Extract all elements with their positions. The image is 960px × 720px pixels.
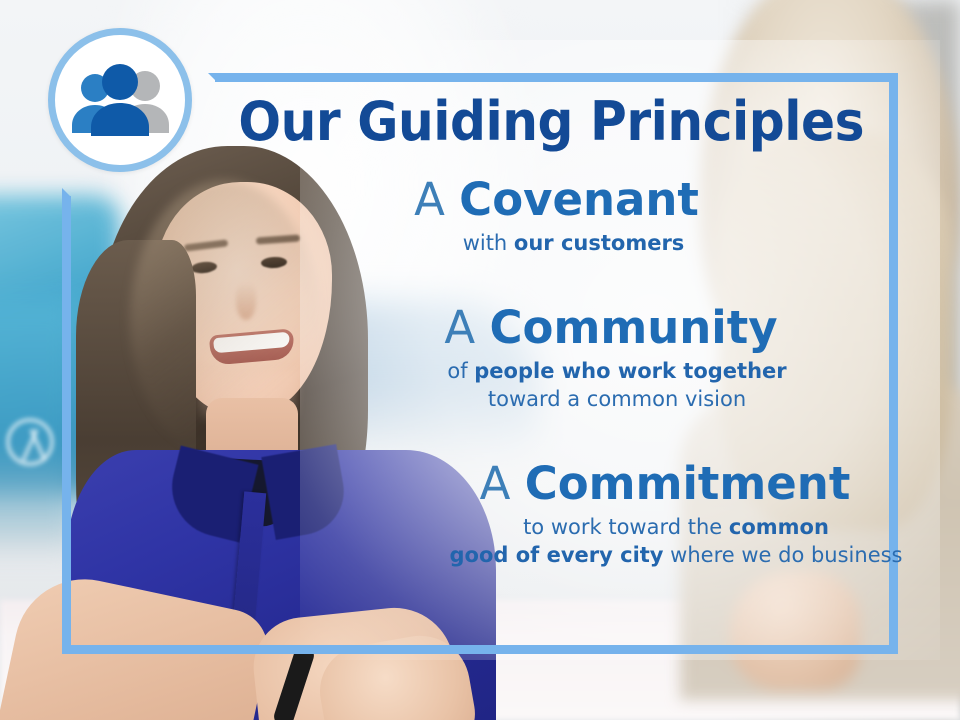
- principle-commitment-article: A: [480, 457, 511, 510]
- principle-community-subtitle-plain-2: toward a common vision: [488, 387, 746, 411]
- principle-commitment: A Commitment to work toward the commongo…: [215, 461, 960, 569]
- principle-covenant-subtitle: with our customers: [215, 230, 898, 258]
- principle-community-subtitle-plain-1: of: [447, 359, 474, 383]
- principle-covenant-subtitle-plain-1: with: [463, 231, 514, 255]
- principle-covenant-subtitle-bold-1: our customers: [514, 231, 684, 255]
- principle-covenant-word: Covenant: [459, 173, 699, 226]
- principle-community-subtitle-bold-1: people who work together: [474, 359, 786, 383]
- principle-community-article: A: [444, 301, 475, 354]
- people-group-icon-badge: [48, 28, 192, 172]
- people-group-icon: [66, 63, 174, 137]
- principle-community-title: A Community: [215, 305, 955, 352]
- principle-commitment-word: Commitment: [525, 457, 851, 510]
- principle-commitment-subtitle-bold-1: common: [729, 515, 829, 539]
- principle-commitment-subtitle-plain-3: where we do business: [664, 543, 903, 567]
- page-title: Our Guiding Principles: [238, 95, 859, 149]
- principle-commitment-subtitle: to work toward the commongood of every c…: [215, 514, 960, 569]
- principle-commitment-title: A Commitment: [215, 461, 960, 508]
- blurred-vehicle-emblem: [6, 418, 54, 466]
- principle-community-subtitle: of people who work togethertoward a comm…: [215, 358, 955, 413]
- guiding-principles-graphic: FLOW FLOW: [0, 0, 960, 720]
- principle-commitment-subtitle-plain-1: to work toward the: [523, 515, 729, 539]
- principle-covenant: A Covenant with our customers: [215, 177, 898, 258]
- principle-covenant-article: A: [414, 173, 445, 226]
- principle-community: A Community of people who work togethert…: [215, 305, 955, 413]
- principles-content: Our Guiding Principles A Covenant with o…: [215, 73, 898, 654]
- principle-community-word: Community: [490, 301, 778, 354]
- principle-covenant-title: A Covenant: [215, 177, 898, 224]
- principle-commitment-subtitle-bold-2: good of every city: [449, 543, 663, 567]
